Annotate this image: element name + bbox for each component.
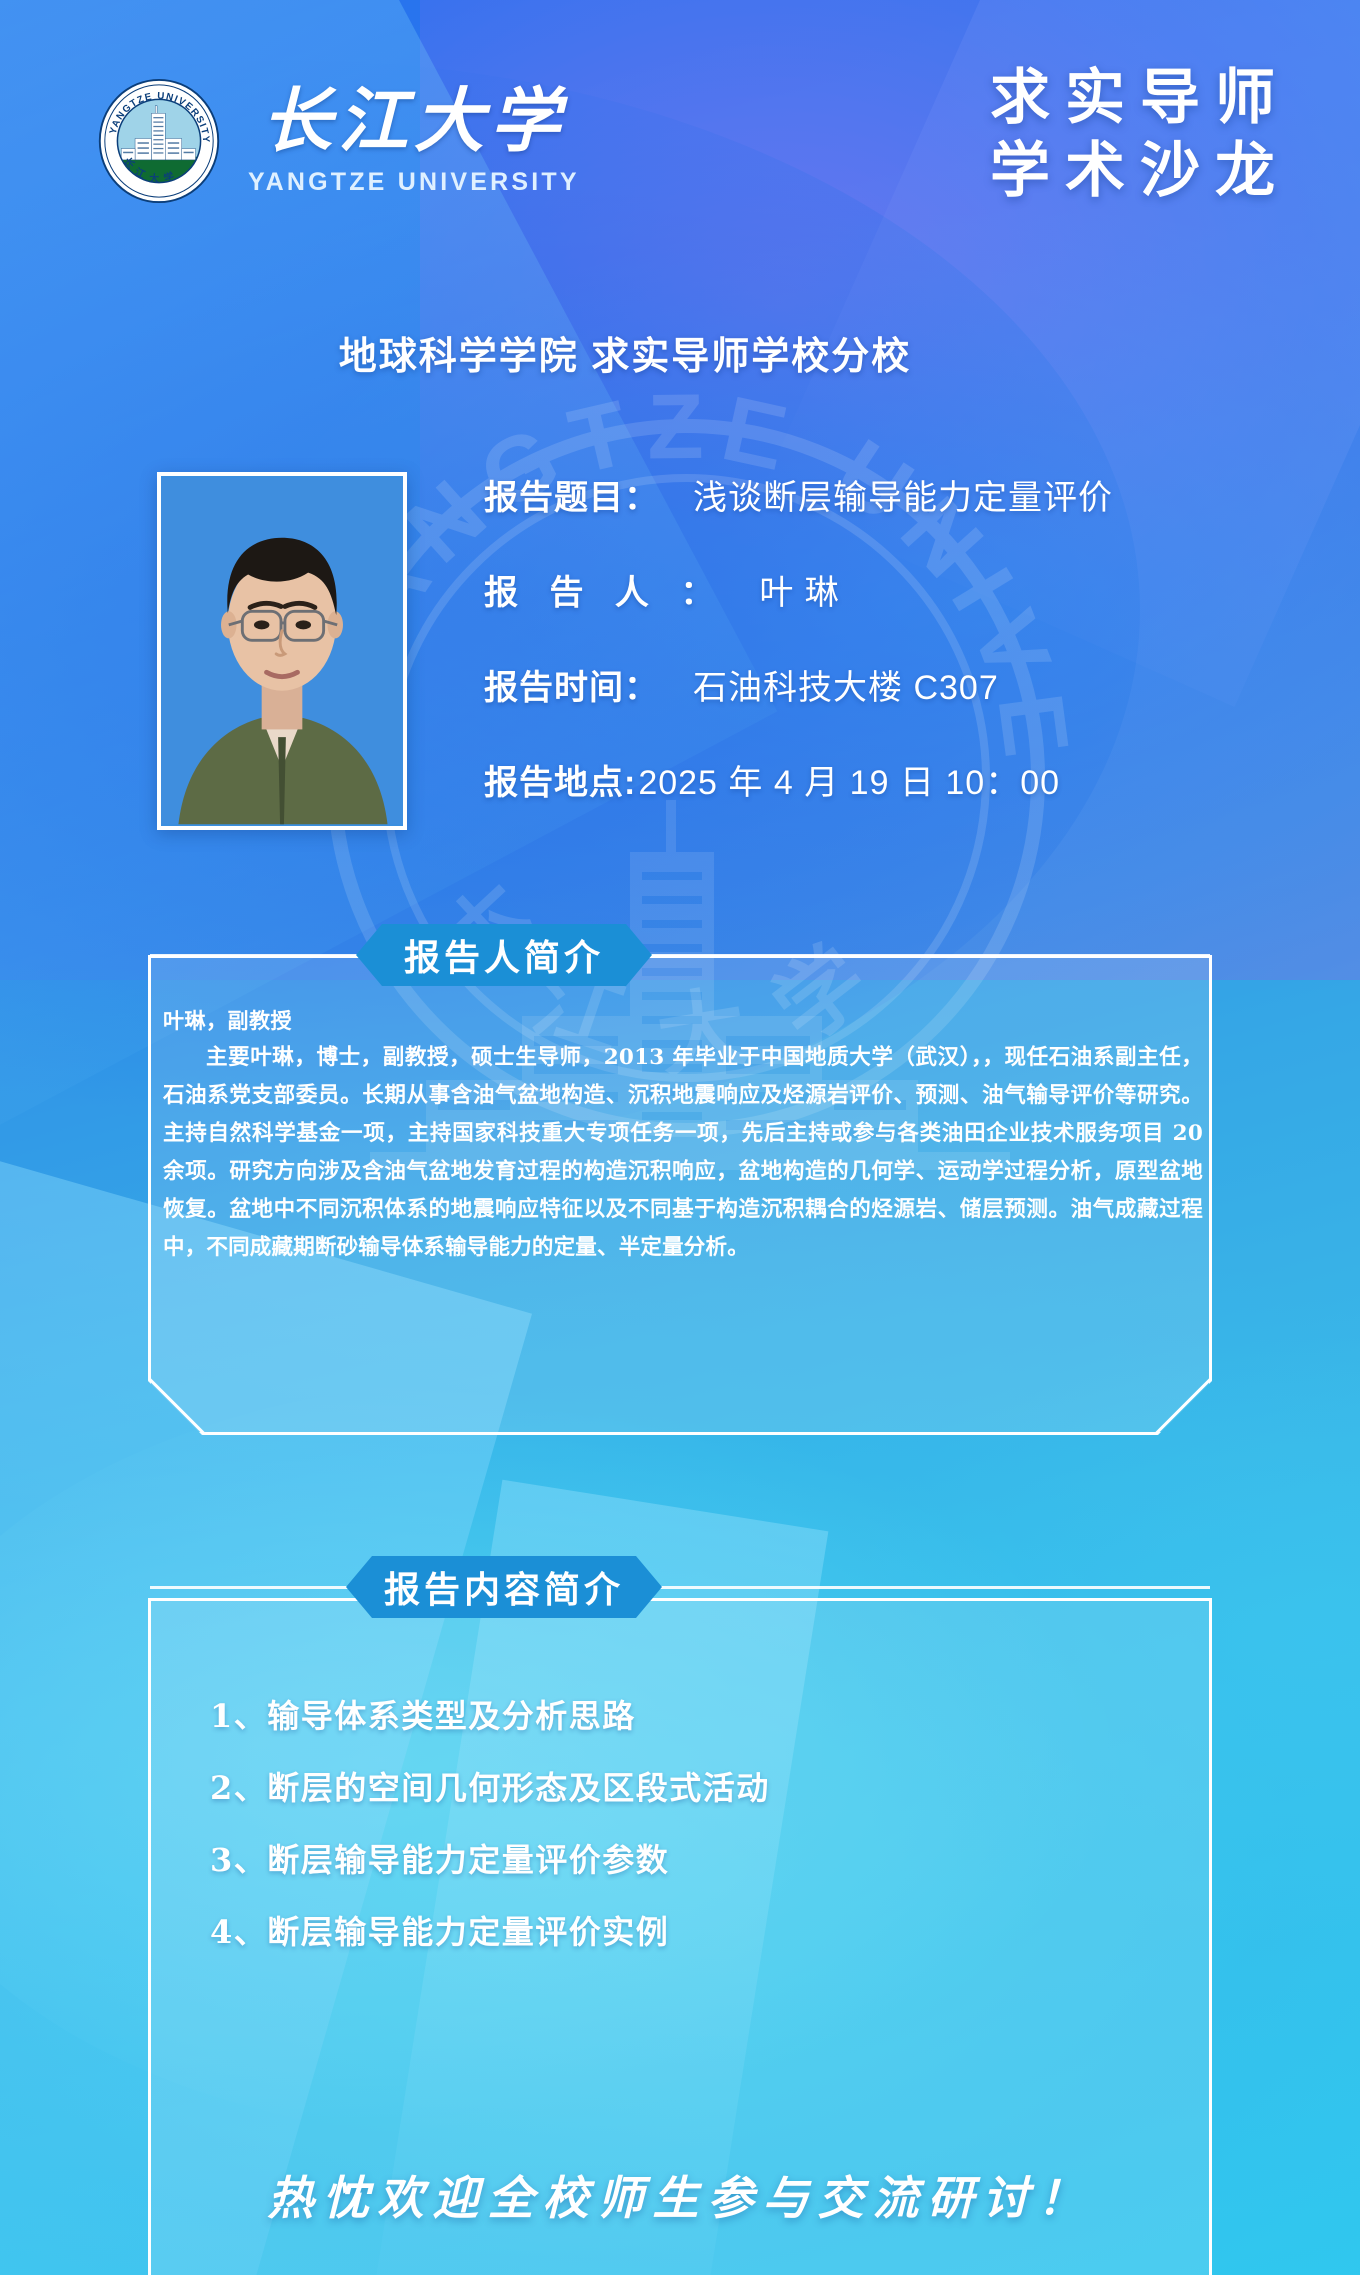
salon-title-line1: 求实导师 (990, 62, 1290, 135)
info-row-time: 报告时间： 石油科技大楼 C307 (484, 660, 1304, 709)
subtitle-text: 地球科学学院 求实导师学校分校 (339, 325, 912, 380)
info-label-speaker: 报 告 人 ： (484, 565, 725, 614)
university-brand: YANGTZE UNIVERSITY 长江大学 长江大学 YANGTZE UNI… (96, 78, 580, 204)
info-row-title: 报告题目： 浅谈断层输导能力定量评价 (484, 470, 1304, 519)
agenda-section-heading: 报告内容简介 (346, 1556, 662, 1618)
agenda-ribbon-tail-right (660, 1586, 1210, 1589)
speaker-bio-body: 叶琳，副教授 主要叶琳，博士，副教授，硕士生导师，2013 年毕业于中国地质大学… (163, 1005, 1203, 1267)
info-value-speaker: 叶 琳 (759, 565, 839, 614)
agenda-item: 4、断层输导能力定量评价实例 (210, 1916, 1150, 1948)
university-seal-icon: YANGTZE UNIVERSITY 长江大学 (96, 78, 222, 204)
info-label-time: 报告时间： (484, 660, 659, 709)
salon-title: 求实导师 学术沙龙 (990, 62, 1290, 208)
agenda-item: 1、输导体系类型及分析思路 (210, 1700, 1150, 1732)
info-row-speaker: 报 告 人 ： 叶 琳 (484, 565, 1304, 614)
poster-header: YANGTZE UNIVERSITY 长江大学 长江大学 YANGTZE UNI… (0, 0, 1360, 300)
info-label-title: 报告题目： (484, 470, 659, 519)
info-label-place: 报告地点: (484, 755, 636, 804)
info-row-place: 报告地点: 2025 年 4 月 19 日 10：00 (484, 755, 1304, 804)
talk-info: 报告题目： 浅谈断层输导能力定量评价 报 告 人 ： 叶 琳 报告时间： 石油科… (484, 470, 1304, 804)
bio-section-heading: 报告人简介 (356, 924, 652, 986)
speaker-portrait (157, 472, 407, 830)
agenda-list: 1、输导体系类型及分析思路 2、断层的空间几何形态及区段式活动 3、断层输导能力… (210, 1700, 1150, 1948)
university-name-cn: 长江大学 (262, 86, 566, 156)
footer-invitation-text: 热忱欢迎全校师生参与交流研讨！ (268, 2171, 1093, 2225)
salon-title-line2: 学术沙龙 (990, 135, 1290, 208)
poster-root: YANGTZE UNIVERSITY 长江大学 (0, 0, 1360, 2275)
bio-ribbon-tail-left (150, 954, 358, 957)
agenda-ribbon-tail-left (150, 1586, 348, 1589)
poster-footer: 热忱欢迎全校师生参与交流研讨！ (0, 2162, 1360, 2228)
info-value-place: 2025 年 4 月 19 日 10：00 (638, 755, 1060, 804)
info-value-time: 石油科技大楼 C307 (693, 660, 999, 709)
agenda-item: 3、断层输导能力定量评价参数 (210, 1844, 1150, 1876)
subtitle-bar: 地球科学学院 求实导师学校分校 (0, 325, 1360, 380)
university-name-en: YANGTZE UNIVERSITY (248, 168, 580, 197)
bio-paragraph: 主要叶琳，博士，副教授，硕士生导师，2013 年毕业于中国地质大学（武汉），，现… (163, 1039, 1203, 1267)
bio-ribbon-tail-right (650, 954, 1210, 957)
info-value-title: 浅谈断层输导能力定量评价 (693, 470, 1113, 519)
bio-name-line: 叶琳，副教授 (163, 1005, 1203, 1035)
agenda-item: 2、断层的空间几何形态及区段式活动 (210, 1772, 1150, 1804)
brand-text-block: 长江大学 YANGTZE UNIVERSITY (248, 86, 580, 197)
